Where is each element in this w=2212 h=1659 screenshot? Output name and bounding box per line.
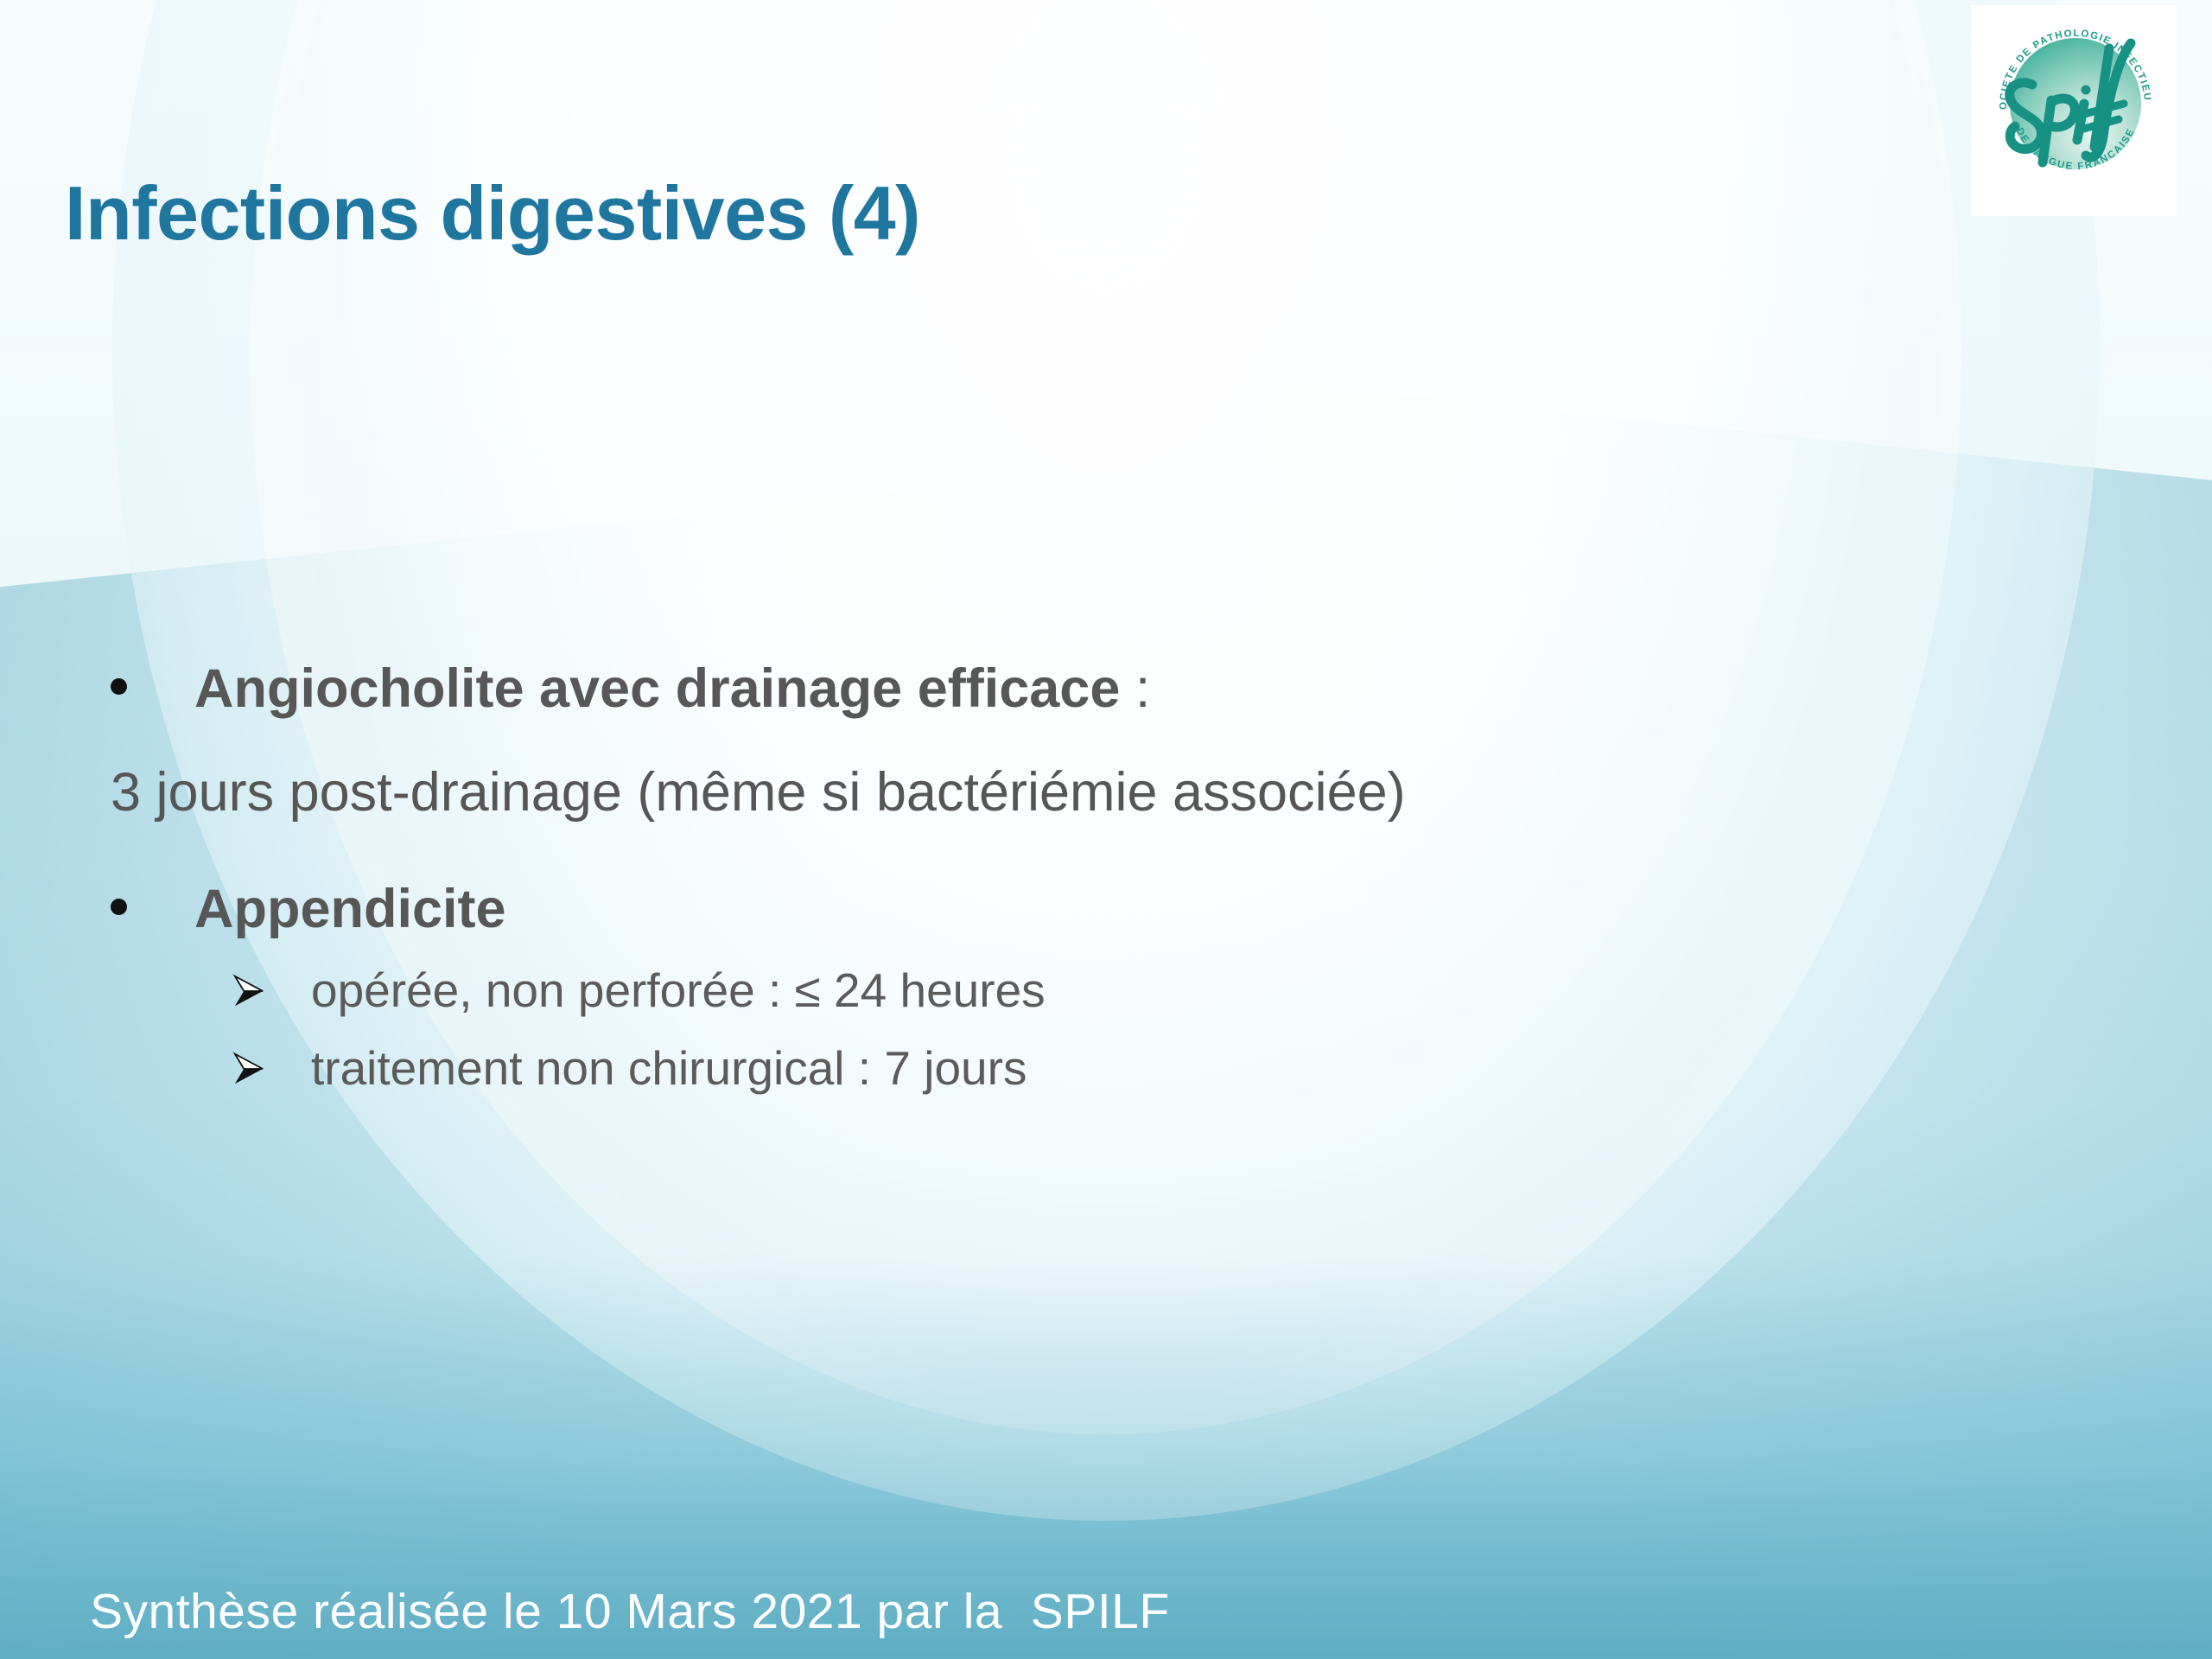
arrowhead-icon [229,1049,269,1089]
bullet-item-appendicite: Appendicite [0,877,2212,941]
spilf-logo: SOCIETE DE PATHOLOGIE INFECTIEUSE DE LAN… [1971,5,2177,216]
bullet-label-angiocholite: Angiocholite avec drainage efficace [194,658,1120,719]
detail-line-angiocholite: 3 jours post-drainage (même si bactériém… [0,760,2212,824]
spacer [0,825,2212,877]
arrowhead-icon [229,971,269,1011]
spilf-logo-badge: SOCIETE DE PATHOLOGIE INFECTIEUSE DE LAN… [1987,17,2164,194]
sub-bullet-label: opérée, non perforée : ≤ 24 heures [311,963,1046,1017]
slide-title: Infections digestives (4) [65,169,920,257]
sub-bullet-label: traitement non chirurgical : 7 jours [311,1041,1027,1095]
bullet-dot-icon [111,899,127,915]
sub-bullet-traitement: traitement non chirurgical : 7 jours [0,1041,2212,1096]
bullet-label-appendicite: Appendicite [194,879,506,939]
sub-bullet-operee: opérée, non perforée : ≤ 24 heures [0,963,2212,1019]
arrowhead-glyph [229,1049,269,1089]
spilf-logo-icon: SOCIETE DE PATHOLOGIE INFECTIEUSE DE LAN… [1987,17,2164,194]
bullet-dot-icon [111,678,127,695]
bullet-item-angiocholite: Angiocholite avec drainage efficace : [0,657,2212,721]
slide-footer: Synthèse réalisée le 10 Mars 2021 par la… [90,1583,1170,1640]
slide-canvas: SOCIETE DE PATHOLOGIE INFECTIEUSE DE LAN… [0,0,2212,1659]
bullet-trailing-colon: : [1120,658,1150,719]
slide-body: Angiocholite avec drainage efficace : 3 … [0,657,2212,1096]
arrowhead-glyph [229,971,269,1011]
